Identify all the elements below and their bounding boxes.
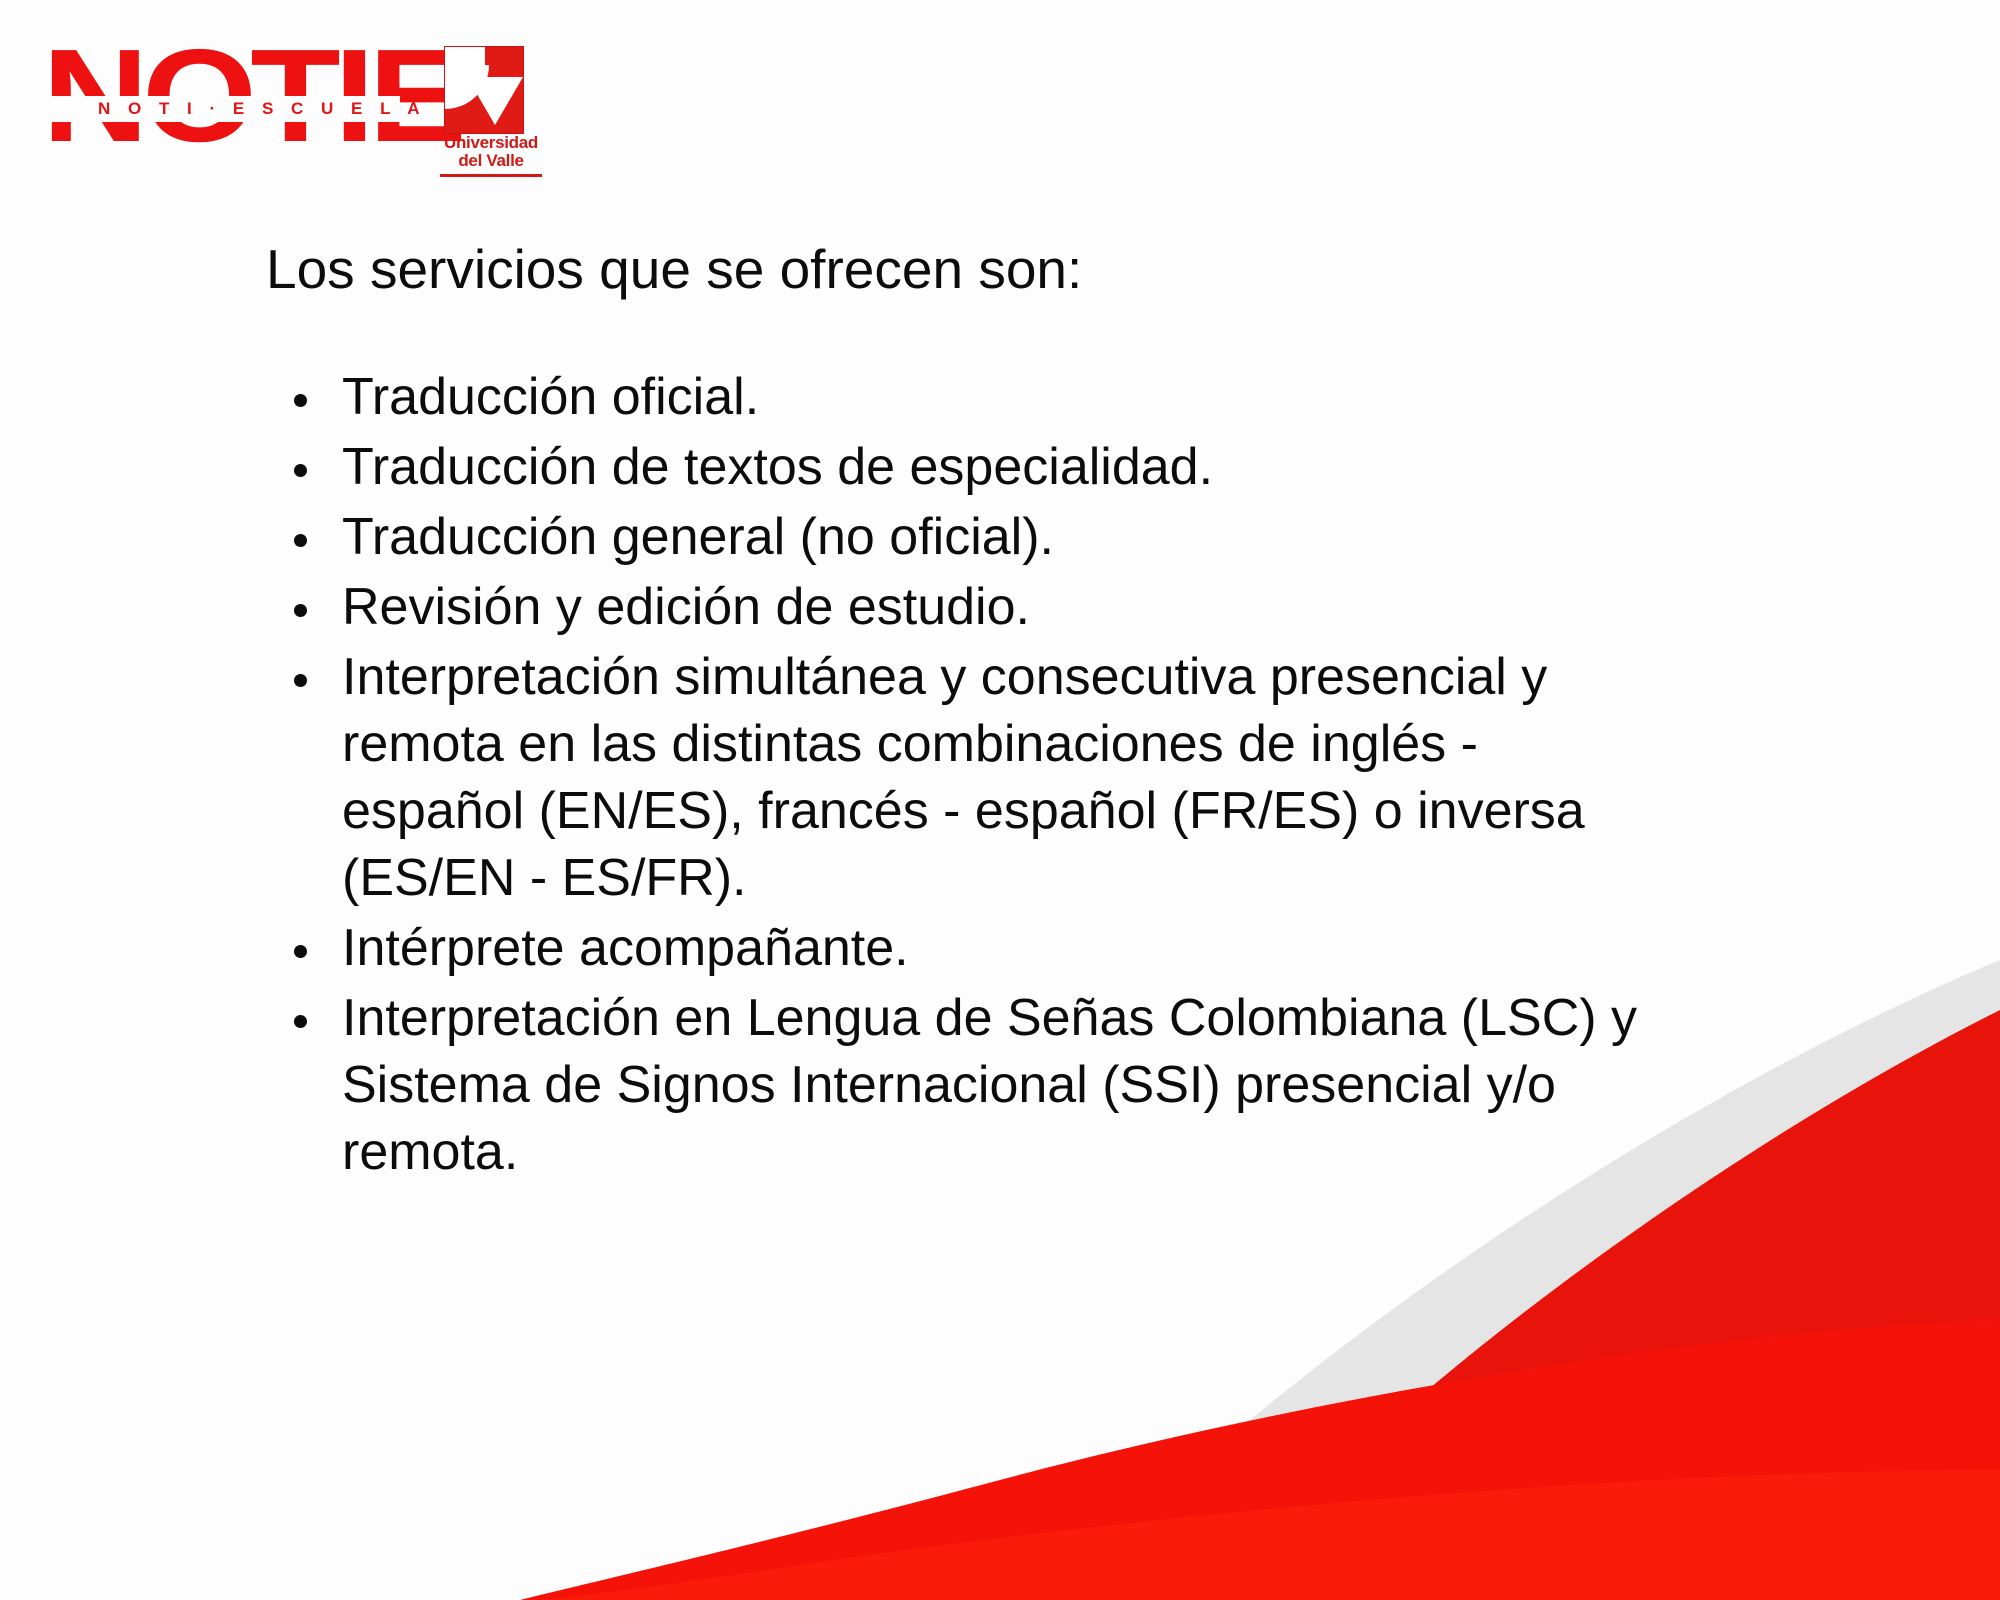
list-item: Traducción oficial.	[266, 364, 1626, 431]
brand-logo: NOTIE N O T I · E S C U E L A Universida…	[42, 44, 512, 164]
slide-canvas: NOTIE N O T I · E S C U E L A Universida…	[0, 0, 2000, 1600]
univalle-shield-triangle	[467, 77, 523, 125]
swoosh-red-base	[540, 1470, 2000, 1600]
bullet-icon	[294, 534, 307, 547]
universidad-del-valle-logo: Universidad del Valle	[426, 46, 556, 186]
list-item-label: Traducción general (no oficial).	[342, 508, 1054, 566]
notie-wordmark: NOTIE N O T I · E S C U E L A	[42, 44, 402, 164]
list-item-label: Revisión y edición de estudio.	[342, 578, 1030, 636]
slide-body: Los servicios que se ofrecen son: Traduc…	[266, 236, 1696, 1189]
list-item-label: Intérprete acompañante.	[342, 919, 909, 977]
bullet-icon	[294, 394, 307, 407]
univalle-name-line2: del Valle	[426, 152, 556, 170]
list-item: Traducción general (no oficial).	[266, 504, 1626, 571]
services-list: Traducción oficial. Traducción de textos…	[266, 364, 1626, 1186]
list-item-label: Traducción oficial.	[342, 368, 759, 426]
bullet-icon	[294, 604, 307, 617]
list-item: Interpretación simultánea y consecutiva …	[266, 644, 1672, 912]
notie-tagline: N O T I · E S C U E L A	[98, 97, 426, 121]
list-item: Traducción de textos de especialidad.	[266, 434, 1626, 501]
bullet-icon	[294, 1015, 307, 1028]
list-item: Interpretación en Lengua de Señas Colomb…	[266, 985, 1672, 1186]
list-item-label: Interpretación simultánea y consecutiva …	[342, 648, 1585, 907]
list-item-label: Interpretación en Lengua de Señas Colomb…	[342, 989, 1637, 1181]
bullet-icon	[294, 945, 307, 958]
univalle-name-line1: Universidad	[426, 134, 556, 152]
bullet-icon	[294, 674, 307, 687]
lead-paragraph: Los servicios que se ofrecen son:	[266, 236, 1696, 302]
list-item-label: Traducción de textos de especialidad.	[342, 438, 1213, 496]
swoosh-red-lower	[520, 1320, 2000, 1600]
univalle-name: Universidad del Valle	[426, 134, 556, 170]
univalle-shield-icon	[444, 46, 524, 134]
univalle-underline	[440, 174, 542, 177]
list-item: Intérprete acompañante.	[266, 915, 1626, 982]
bullet-icon	[294, 464, 307, 477]
list-item: Revisión y edición de estudio.	[266, 574, 1626, 641]
